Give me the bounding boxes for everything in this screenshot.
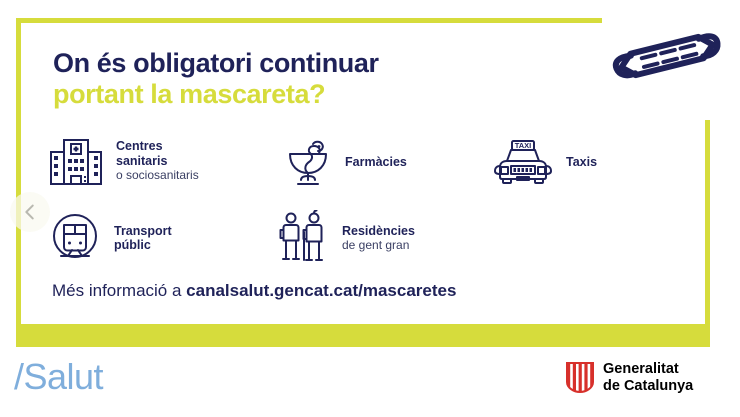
generalitat-line-1: Generalitat bbox=[603, 361, 693, 378]
train-public-transport-icon bbox=[48, 212, 102, 264]
title-line-1: On és obligatori continuar bbox=[53, 48, 573, 78]
elderly-people-icon bbox=[278, 210, 330, 266]
generalitat-label: Generalitat de Catalunya bbox=[603, 361, 693, 394]
item-title: Transport bbox=[114, 224, 172, 239]
item-farmacies: Farmàcies bbox=[283, 136, 407, 188]
generalitat-logo: Generalitat de Catalunya bbox=[566, 361, 693, 394]
more-info-lead: Més informació a bbox=[52, 281, 186, 300]
title-line-2: portant la mascareta? bbox=[53, 79, 573, 109]
page-title: On és obligatori continuar portant la ma… bbox=[53, 48, 573, 109]
item-label: Transport públic bbox=[114, 224, 172, 253]
item-title: Farmàcies bbox=[345, 155, 407, 170]
item-residencies: Residències de gent gran bbox=[278, 210, 415, 266]
item-label: Residències de gent gran bbox=[342, 224, 415, 253]
item-label: Centres sanitaris o sociosanitaris bbox=[116, 139, 199, 183]
svg-text:TAXI: TAXI bbox=[515, 141, 532, 150]
item-title: Taxis bbox=[566, 155, 597, 170]
generalitat-line-2: de Catalunya bbox=[603, 378, 693, 395]
item-subtitle: o sociosanitaris bbox=[116, 168, 199, 183]
item-title-2: públic bbox=[114, 238, 172, 253]
item-label: Taxis bbox=[566, 155, 597, 170]
item-subtitle: de gent gran bbox=[342, 238, 415, 253]
carousel-prev-button[interactable] bbox=[10, 192, 50, 232]
pharmacy-bowl-of-hygieia-icon bbox=[283, 136, 333, 188]
item-taxis: TAXI Taxis bbox=[492, 139, 597, 185]
hospital-building-icon bbox=[48, 136, 104, 186]
chevron-left-icon bbox=[19, 201, 41, 223]
more-info-url[interactable]: canalsalut.gencat.cat/mascaretes bbox=[186, 281, 456, 300]
infographic-slide: On és obligatori continuar portant la ma… bbox=[0, 0, 740, 417]
item-label: Farmàcies bbox=[345, 155, 407, 170]
taxi-car-icon: TAXI bbox=[492, 139, 554, 185]
frame-right-border bbox=[705, 120, 710, 329]
item-centres-sanitaris: Centres sanitaris o sociosanitaris bbox=[48, 136, 199, 186]
item-title: Residències bbox=[342, 224, 415, 239]
item-title: Centres bbox=[116, 139, 199, 154]
item-title-2: sanitaris bbox=[116, 154, 199, 169]
senyera-shield-icon bbox=[566, 362, 594, 393]
face-mask-icon bbox=[612, 25, 722, 87]
salut-brand-logo: /Salut bbox=[14, 357, 103, 397]
item-transport-public: Transport públic bbox=[48, 212, 172, 264]
frame-bottom-bar bbox=[16, 324, 710, 347]
more-info-line: Més informació a canalsalut.gencat.cat/m… bbox=[52, 281, 456, 301]
